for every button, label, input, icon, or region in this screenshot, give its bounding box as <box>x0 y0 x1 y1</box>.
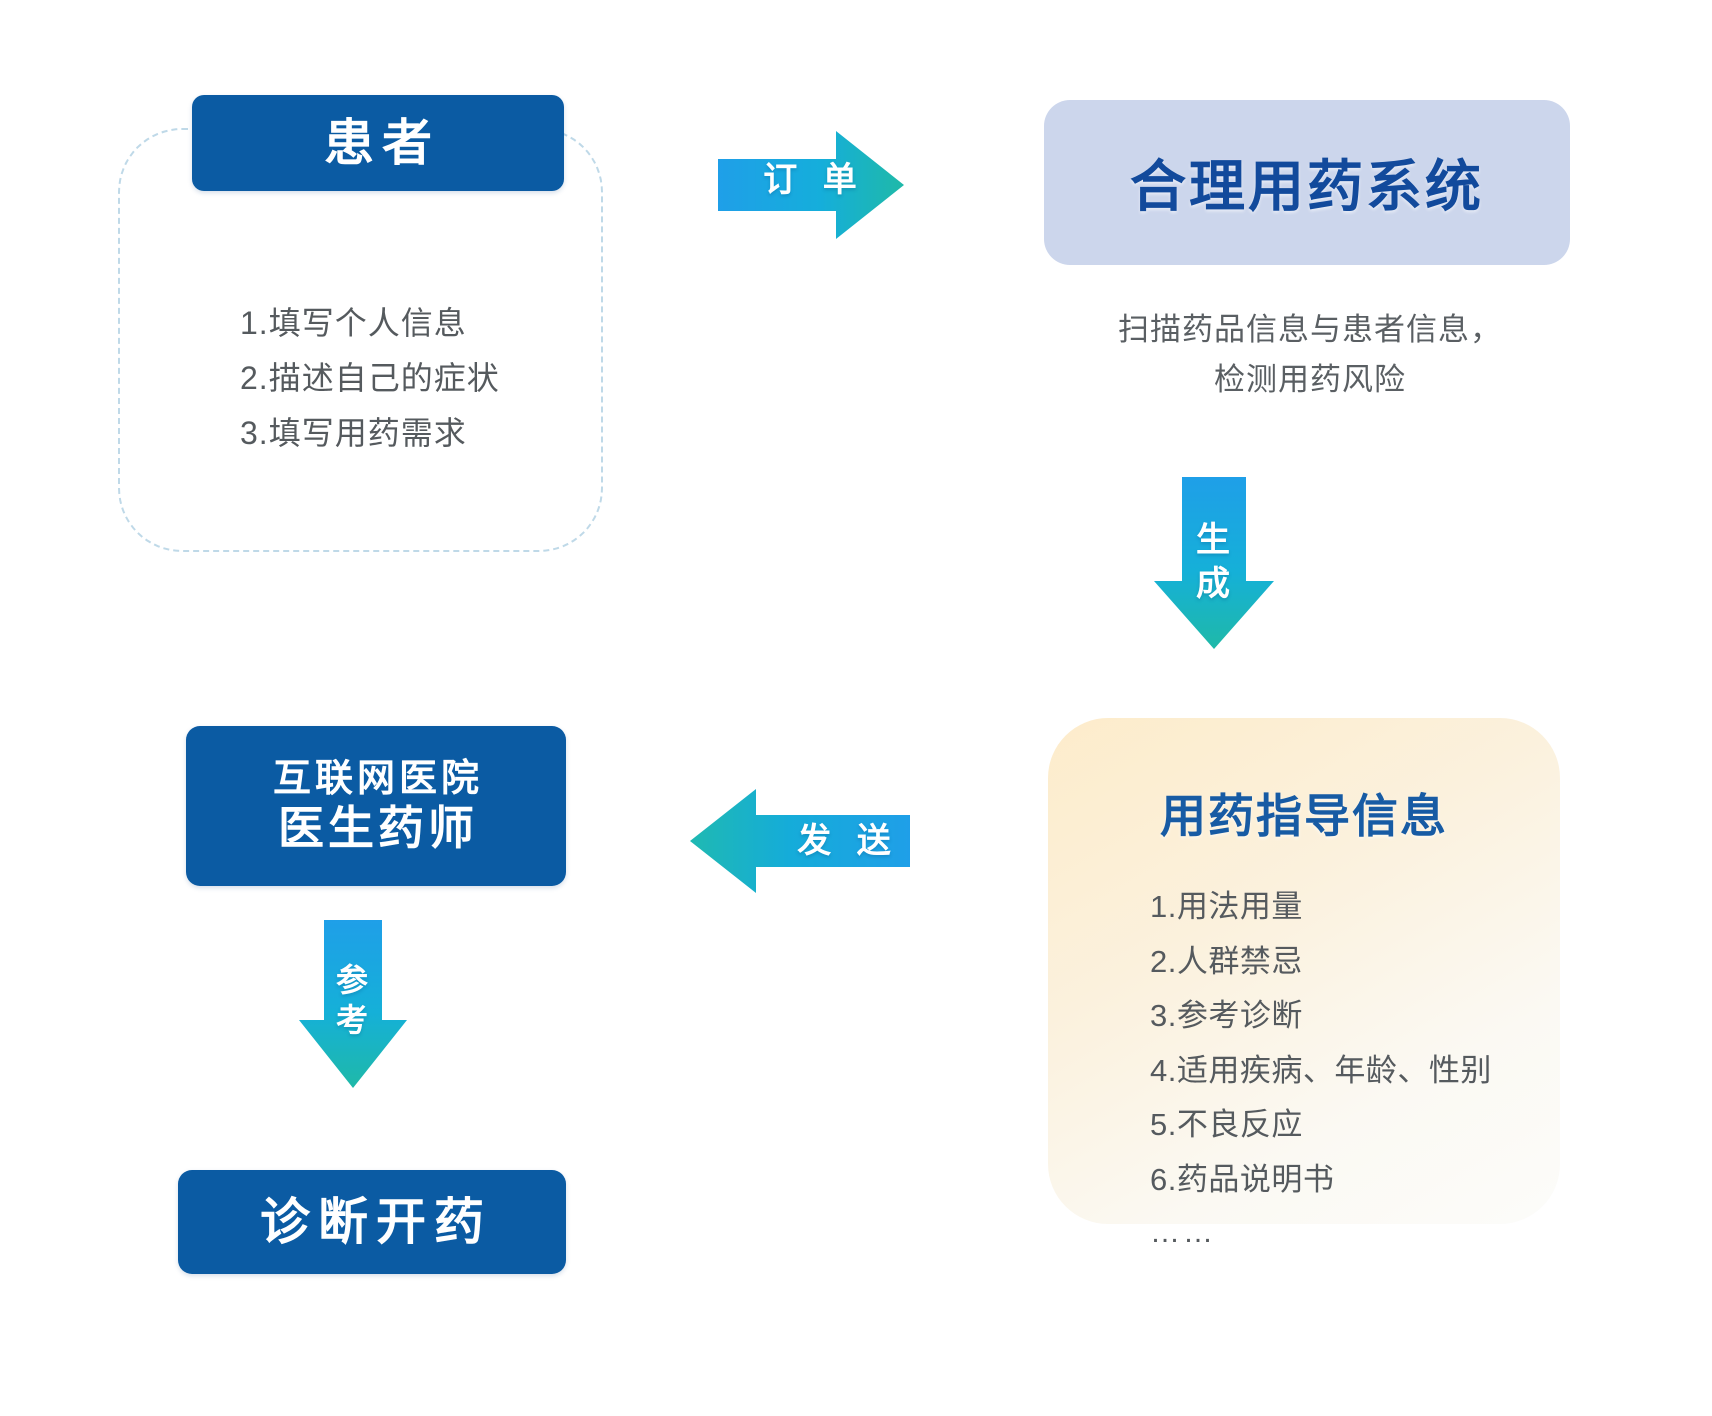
system-title: 合理用药系统 <box>1130 142 1484 223</box>
order-arrow-icon <box>718 131 904 239</box>
generate-arrow-icon <box>1154 477 1274 649</box>
list-item: 1.用法用量 <box>1150 880 1570 935</box>
system-caption-line-1: 扫描药品信息与患者信息， <box>1020 305 1600 355</box>
system-box[interactable]: 合理用药系统 <box>1044 100 1570 265</box>
diagnosis-box[interactable]: 诊断开药 <box>178 1170 566 1274</box>
patient-box[interactable]: 患者 <box>192 95 564 191</box>
refer-arrow-icon <box>299 920 407 1088</box>
list-item: 3.参考诊断 <box>1150 989 1570 1044</box>
system-caption: 扫描药品信息与患者信息， 检测用药风险 <box>1020 305 1600 405</box>
list-item: 1.填写个人信息 <box>240 296 600 351</box>
list-item: 3.填写用药需求 <box>240 406 600 461</box>
diagnosis-title: 诊断开药 <box>252 1197 492 1247</box>
guidance-title: 用药指导信息 <box>1048 780 1560 846</box>
system-caption-line-2: 检测用药风险 <box>1020 355 1600 405</box>
list-item: 2.人群禁忌 <box>1150 935 1570 990</box>
list-item: 2.描述自己的症状 <box>240 351 600 406</box>
patient-steps-list: 1.填写个人信息 2.描述自己的症状 3.填写用药需求 <box>240 296 600 461</box>
patient-title: 患者 <box>316 118 440 168</box>
guidance-ellipsis: …… <box>1150 1207 1570 1260</box>
internet-hospital-line-1: 互联网医院 <box>269 758 483 801</box>
internet-hospital-line-2: 医生药师 <box>274 803 478 855</box>
list-item: 4.适用疾病、年龄、性别 <box>1150 1044 1570 1099</box>
list-item: 5.不良反应 <box>1150 1098 1570 1153</box>
diagram-canvas: 患者 1.填写个人信息 2.描述自己的症状 3.填写用药需求 订 单 合理用药系… <box>0 0 1712 1416</box>
list-item: 6.药品说明书 <box>1150 1153 1570 1208</box>
internet-hospital-box[interactable]: 互联网医院 医生药师 <box>186 726 566 886</box>
send-arrow-icon <box>690 789 910 893</box>
guidance-list: 1.用法用量 2.人群禁忌 3.参考诊断 4.适用疾病、年龄、性别 5.不良反应… <box>1150 880 1570 1260</box>
